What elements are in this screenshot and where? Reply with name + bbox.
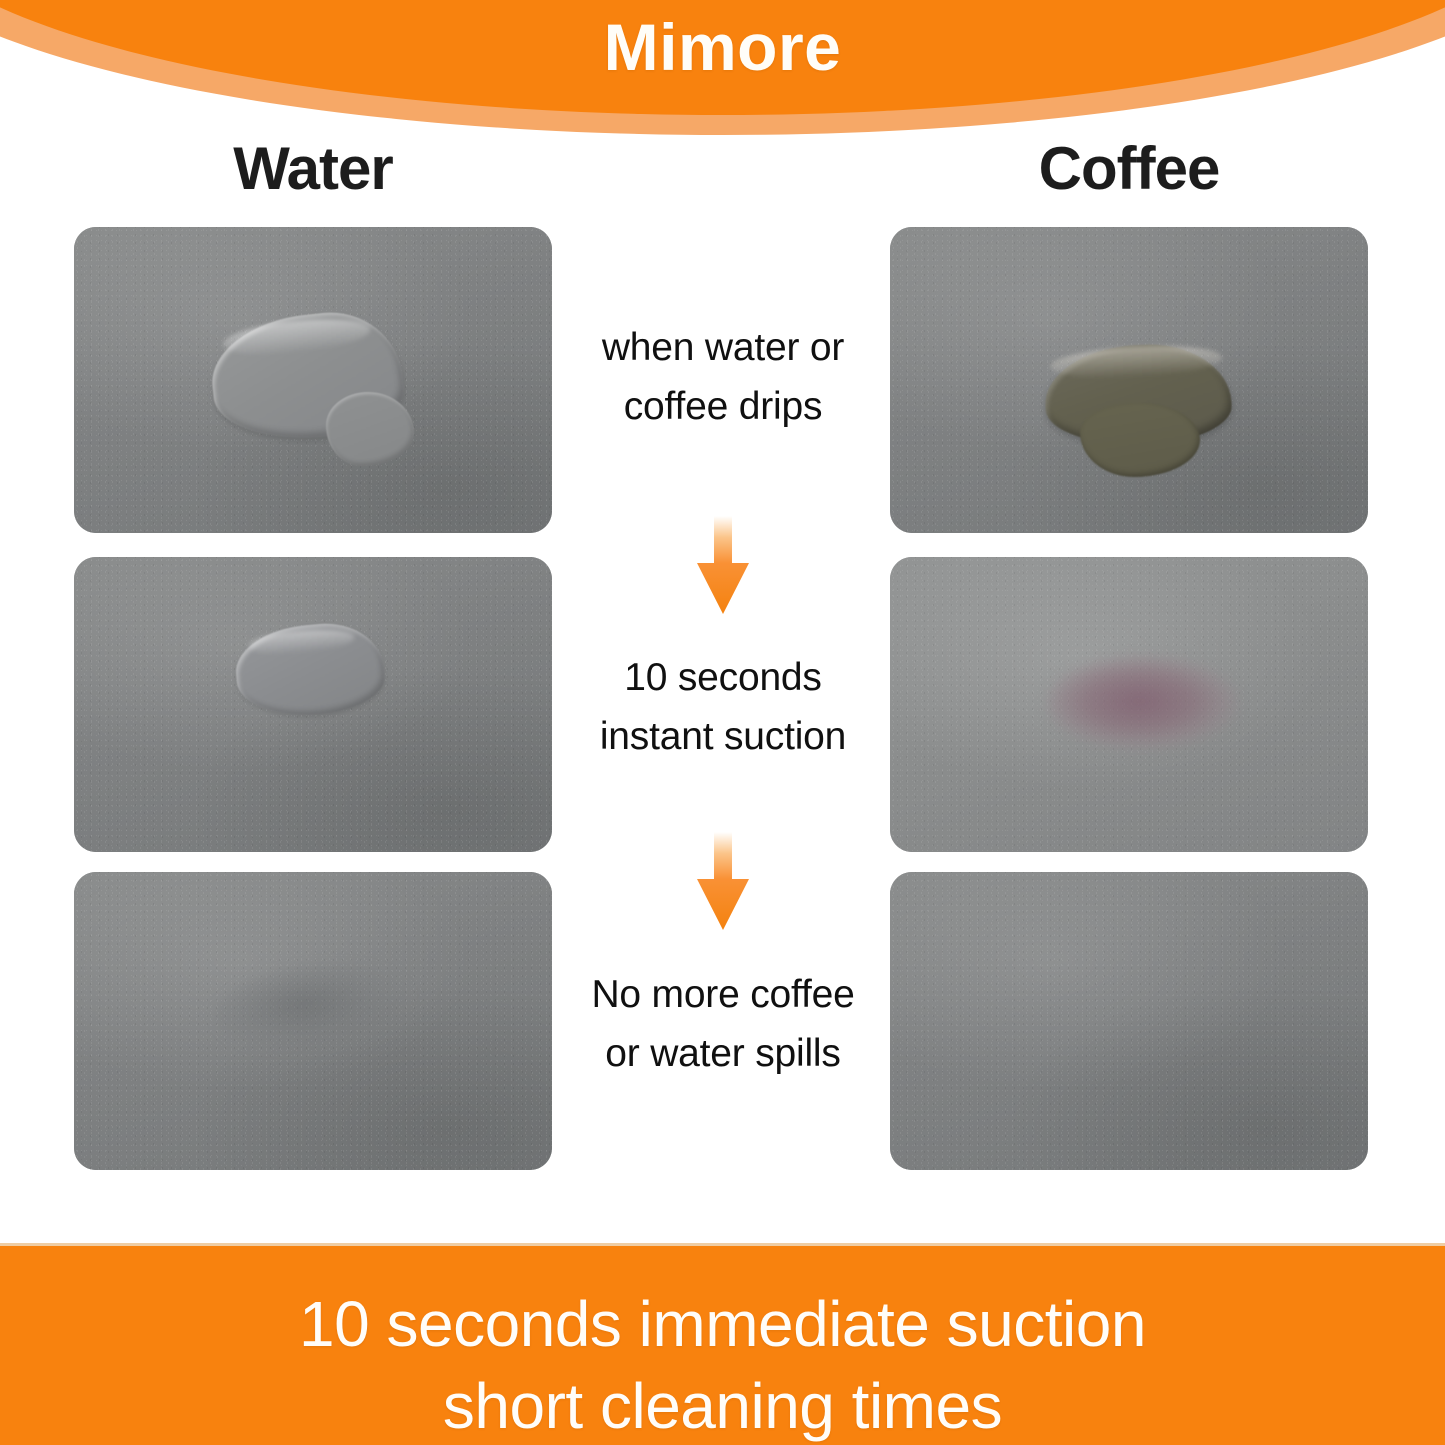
step-1-caption: when water or coffee drips	[555, 318, 891, 437]
down-arrow-icon-1	[697, 516, 749, 614]
step-2-caption: 10 seconds instant suction	[555, 648, 891, 767]
column-heading-coffee: Coffee	[890, 139, 1368, 199]
step-2-caption-line-2: instant suction	[555, 707, 891, 766]
water-panel-step-1	[74, 227, 552, 533]
step-3-caption: No more coffee or water spills	[555, 965, 891, 1084]
step-3-caption-line-1: No more coffee	[555, 965, 891, 1024]
bottom-claim-line-2: short cleaning times	[0, 1374, 1445, 1438]
step-3-caption-line-2: or water spills	[555, 1024, 891, 1083]
coffee-panel-step-3	[890, 872, 1368, 1170]
water-panel-step-3	[74, 872, 552, 1170]
step-2-caption-line-1: 10 seconds	[555, 648, 891, 707]
bottom-claim-line-1: 10 seconds immediate suction	[0, 1292, 1445, 1356]
brand-title: Mimore	[0, 14, 1445, 80]
column-heading-water: Water	[74, 139, 552, 199]
mat-grain-texture	[890, 872, 1368, 1170]
down-arrow-icon-2	[697, 832, 749, 930]
top-brand-banner: Mimore	[0, 0, 1445, 260]
step-1-caption-line-1: when water or	[555, 318, 891, 377]
coffee-panel-step-1	[890, 227, 1368, 533]
step-1-caption-line-2: coffee drips	[555, 377, 891, 436]
coffee-panel-step-2	[890, 557, 1368, 852]
water-panel-step-2	[74, 557, 552, 852]
bottom-claim-banner: 10 seconds immediate suction short clean…	[0, 1243, 1445, 1445]
infographic-canvas: Mimore Water Coffee when water o	[0, 0, 1445, 1445]
coffee-stain	[1048, 657, 1238, 749]
